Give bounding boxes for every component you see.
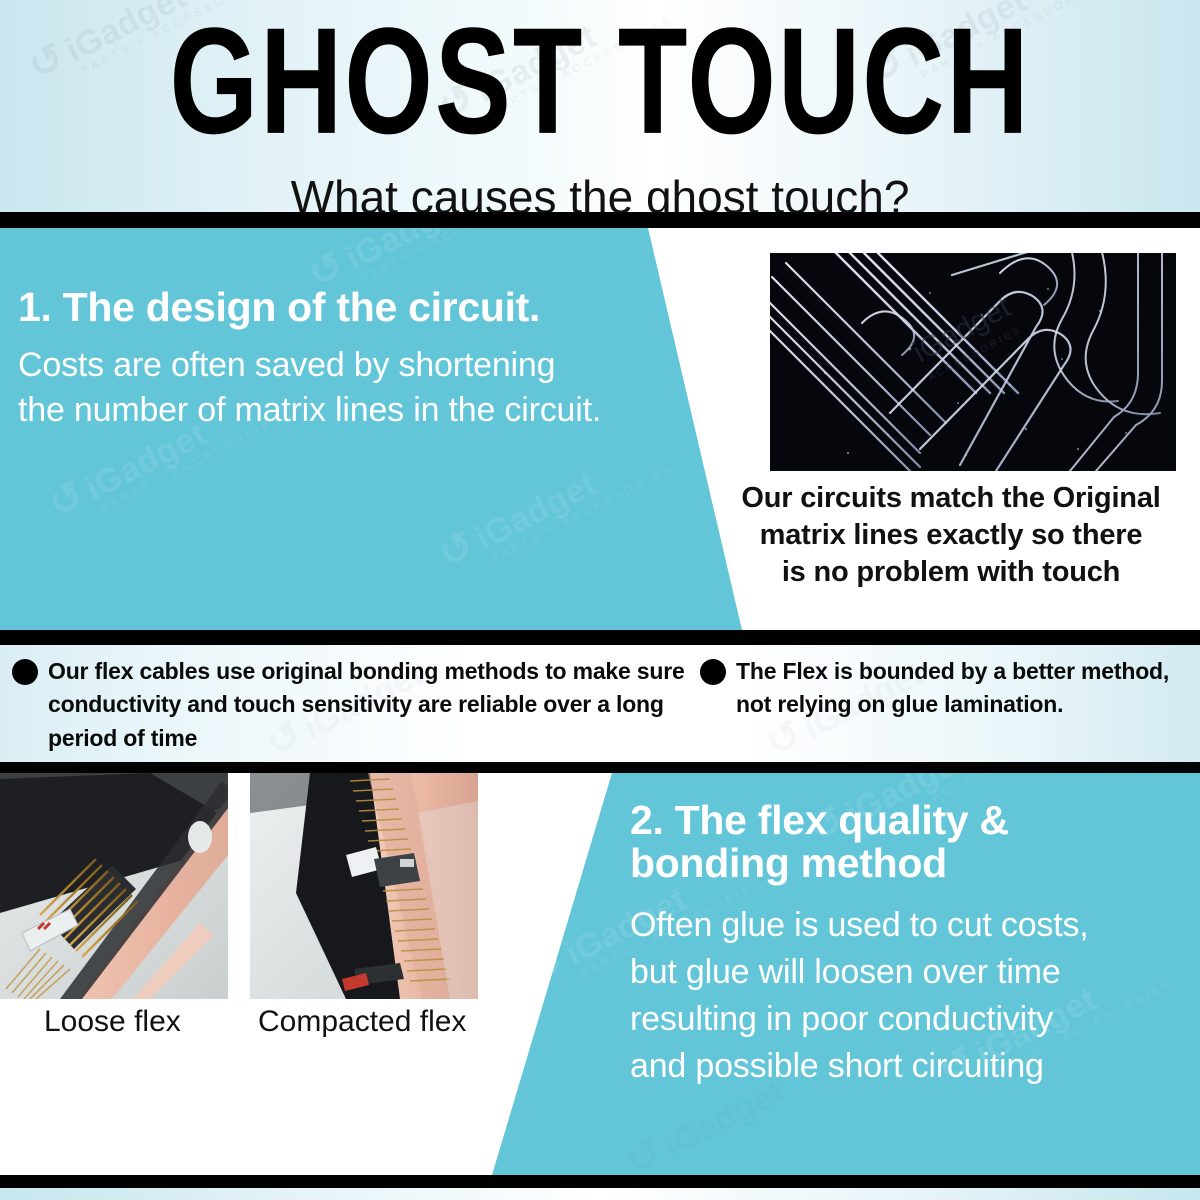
divider-bar-lower [0, 762, 1200, 773]
caption-line-3: is no problem with touch [782, 556, 1120, 588]
infographic-page: ↺iGadgetPARTS > ACCESSORIES ↺iGadgetPART… [0, 0, 1200, 1200]
caption-line-2: matrix lines exactly so there [760, 519, 1143, 551]
circuit-photo-caption: Our circuits match the Original matrix l… [716, 480, 1186, 591]
section1-body-line1: Costs are often saved by shortening [18, 346, 555, 384]
loose-flex-label: Loose flex [44, 1005, 181, 1039]
bullet-text-2: The Flex is bounded by a better method, … [736, 655, 1190, 762]
caption-line-1: Our circuits match the Original [741, 482, 1160, 514]
bullet-text-1: Our flex cables use original bonding met… [48, 655, 690, 762]
bullet-dot-icon [700, 659, 726, 685]
section2-body-line1: Often glue is used to cut costs, [630, 906, 1089, 944]
page-title: GHOST TOUCH [169, 6, 1030, 157]
loose-flex-photo [0, 773, 228, 999]
bullet-dot-icon [12, 659, 38, 685]
bottom-strip [0, 1188, 1200, 1200]
divider-bar-middle [0, 630, 1200, 645]
section1-body-line2: the number of matrix lines in the circui… [18, 391, 601, 429]
section2-heading-line1: 2. The flex quality & [630, 799, 1175, 842]
divider-bar-top [0, 212, 1200, 228]
flex-photo-group [0, 773, 478, 999]
section2-body-line2: but glue will loosen over time [630, 953, 1061, 991]
section2-body-line3: resulting in poor conductivity [630, 1000, 1053, 1038]
bullet-band: ↺iGadget ↺iGadget Our flex cables use or… [0, 645, 1200, 762]
header-banner: ↺iGadgetPARTS > ACCESSORIES ↺iGadgetPART… [0, 0, 1200, 212]
bullet-item-2: The Flex is bounded by a better method, … [690, 645, 1190, 762]
bullet-item-1: Our flex cables use original bonding met… [0, 645, 690, 762]
section1-text-block: 1. The design of the circuit. Costs are … [18, 286, 678, 433]
section2-body-line4: and possible short circuiting [630, 1047, 1044, 1085]
section2-text-block: 2. The flex quality & bonding method Oft… [630, 799, 1175, 1090]
compacted-flex-photo [250, 773, 478, 999]
compacted-flex-label: Compacted flex [258, 1005, 466, 1039]
section1-heading: 1. The design of the circuit. [18, 286, 678, 329]
page-subtitle: What causes the ghost touch? [291, 170, 910, 212]
section-flex-quality: ↺iGadgetPARTS > ACCESSORIES ↺iGadgetPART… [0, 773, 1200, 1175]
section2-heading-line2: bonding method [630, 842, 1175, 885]
divider-bar-bottom [0, 1175, 1200, 1188]
circuit-matrix-lines-photo: iGadget ACCESSORIES [770, 253, 1176, 471]
